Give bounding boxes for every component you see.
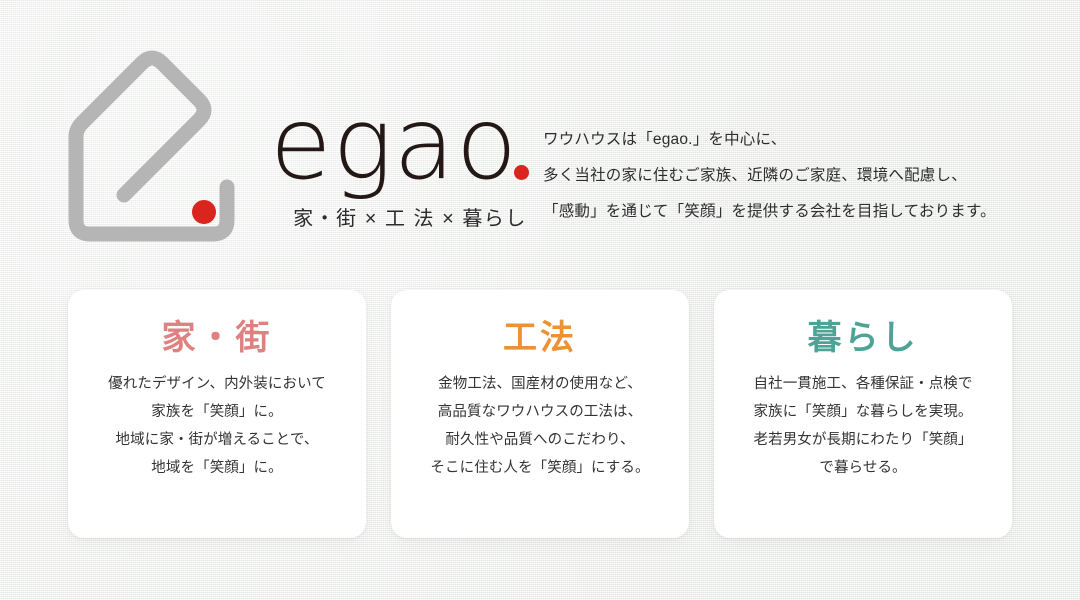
concept-card-list: 家・街 優れたデザイン、内外装において 家族を「笑顔」に。 地域に家・街が増える… — [68, 290, 1012, 538]
concept-card-kurashi[interactable]: 暮らし 自社一貫施工、各種保証・点検で 家族に「笑顔」な暮らしを実現。 老若男女… — [714, 290, 1012, 538]
wordmark: egao — [270, 94, 530, 204]
card-body: 自社一貫施工、各種保証・点検で 家族に「笑顔」な暮らしを実現。 老若男女が長期に… — [714, 370, 1012, 482]
concept-card-ie-machi[interactable]: 家・街 優れたデザイン、内外装において 家族を「笑顔」に。 地域に家・街が増える… — [68, 290, 366, 538]
intro-line: 多く当社の家に住むご家族、近隣のご家庭、環境へ配慮し、 — [543, 158, 1043, 194]
wordmark-text: egao — [270, 94, 530, 194]
brand-tagline: 家・街 × 工 法 × 暮らし — [284, 202, 536, 231]
card-line: で暮らせる。 — [728, 454, 998, 482]
card-body: 金物工法、国産材の使用など、 高品質なワウハウスの工法は、 耐久性や品質へのこだ… — [391, 370, 689, 482]
card-line: そこに住む人を「笑顔」にする。 — [405, 454, 675, 482]
card-title: 暮らし — [714, 316, 1012, 360]
logo-red-dot — [192, 200, 216, 224]
card-line: 金物工法、国産材の使用など、 — [405, 370, 675, 398]
card-line: 老若男女が長期にわたり「笑顔」 — [728, 426, 998, 454]
card-line: 地域に家・街が増えることで、 — [82, 426, 352, 454]
card-line: 高品質なワウハウスの工法は、 — [405, 398, 675, 426]
card-body: 優れたデザイン、内外装において 家族を「笑顔」に。 地域に家・街が増えることで、… — [68, 370, 366, 482]
card-line: 家族を「笑顔」に。 — [82, 398, 352, 426]
card-line: 優れたデザイン、内外装において — [82, 370, 352, 398]
card-line: 地域を「笑顔」に。 — [82, 454, 352, 482]
concept-card-kouhou[interactable]: 工法 金物工法、国産材の使用など、 高品質なワウハウスの工法は、 耐久性や品質へ… — [391, 290, 689, 538]
intro-line: 「感動」を通じて「笑顔」を提供する会社を目指しております。 — [543, 194, 1043, 230]
wordmark-period-dot — [514, 165, 529, 180]
card-line: 耐久性や品質へのこだわり、 — [405, 426, 675, 454]
card-line: 家族に「笑顔」な暮らしを実現。 — [728, 398, 998, 426]
header-section: egao 家・街 × 工 法 × 暮らし ワウハウスは「egao.」を中心に、 … — [0, 0, 1080, 280]
card-title: 工法 — [391, 316, 689, 360]
brand-logo[interactable]: egao 家・街 × 工 法 × 暮らし — [62, 44, 522, 244]
card-line: 自社一貫施工、各種保証・点検で — [728, 370, 998, 398]
intro-line: ワウハウスは「egao.」を中心に、 — [543, 122, 1043, 158]
house-pencil-logo-mark — [62, 44, 282, 244]
card-title: 家・街 — [68, 316, 366, 360]
intro-paragraph: ワウハウスは「egao.」を中心に、 多く当社の家に住むご家族、近隣のご家庭、環… — [543, 122, 1043, 230]
